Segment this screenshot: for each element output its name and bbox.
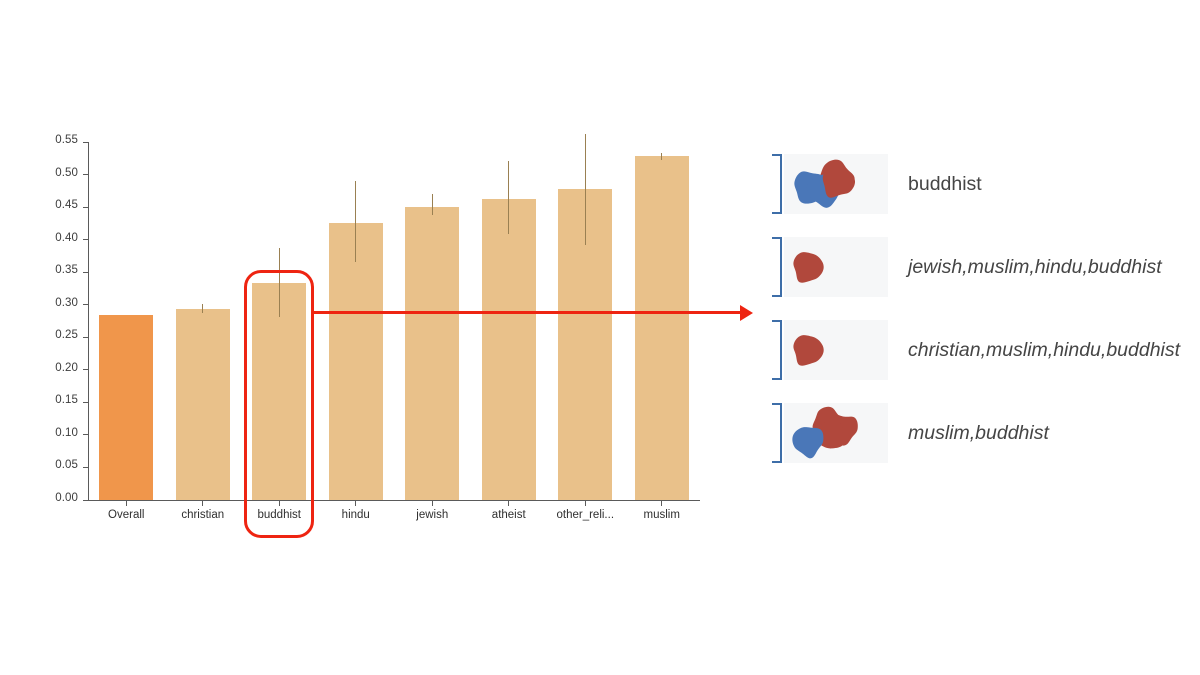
x-axis-tick: [585, 501, 586, 506]
blob-thumbnail-icon[interactable]: [784, 403, 888, 463]
x-axis-tick-label-muslim: muslim: [617, 509, 707, 521]
y-axis-tick: [83, 304, 88, 305]
y-axis-tick: [83, 337, 88, 338]
y-axis-tick-label: 0.15: [26, 394, 78, 406]
y-axis-tick-label: 0.10: [26, 427, 78, 439]
y-axis-tick-label: 0.20: [26, 362, 78, 374]
y-axis-tick: [83, 402, 88, 403]
annotation-arrow-line: [314, 311, 740, 314]
y-axis-tick: [83, 369, 88, 370]
bar-chart: 0.000.050.100.150.200.250.300.350.400.45…: [0, 0, 740, 675]
y-axis-tick: [83, 207, 88, 208]
bar-hindu: [329, 223, 383, 500]
x-axis-tick: [508, 501, 509, 506]
bar-christian: [176, 309, 230, 500]
bracket-icon: [772, 403, 782, 463]
bracket-icon: [772, 154, 782, 214]
gallery-item-label: muslim,buddhist: [908, 399, 1049, 467]
error-bar: [508, 161, 509, 234]
bar-atheist: [482, 199, 536, 500]
gallery-item[interactable]: jewish,muslim,hindu,buddhist: [772, 233, 1192, 301]
x-axis-tick: [355, 501, 356, 506]
y-axis-tick-label: 0.00: [26, 492, 78, 504]
y-axis-tick: [83, 467, 88, 468]
gallery-item[interactable]: muslim,buddhist: [772, 399, 1192, 467]
x-axis-spine: [88, 500, 700, 501]
y-axis-tick-label: 0.25: [26, 329, 78, 341]
image-gallery: buddhistjewish,muslim,hindu,buddhistchri…: [772, 150, 1192, 482]
y-axis-tick-label: 0.50: [26, 167, 78, 179]
bar-jewish: [405, 207, 459, 500]
y-axis-tick: [83, 142, 88, 143]
y-axis-tick-label: 0.55: [26, 134, 78, 146]
error-bar: [585, 134, 586, 245]
error-bar: [432, 194, 433, 215]
y-axis-tick-label: 0.35: [26, 264, 78, 276]
blob-thumbnail-icon[interactable]: [784, 320, 888, 380]
blob-thumbnail-icon[interactable]: [784, 154, 888, 214]
gallery-item[interactable]: christian,muslim,hindu,buddhist: [772, 316, 1192, 384]
x-axis-tick: [661, 501, 662, 506]
bracket-icon: [772, 237, 782, 297]
y-axis-tick-label: 0.45: [26, 199, 78, 211]
gallery-item-label: christian,muslim,hindu,buddhist: [908, 316, 1180, 384]
y-axis-tick: [83, 434, 88, 435]
highlight-box-buddhist: [244, 270, 314, 538]
error-bar: [661, 153, 662, 160]
gallery-item-label: jewish,muslim,hindu,buddhist: [908, 233, 1162, 301]
y-axis-spine: [88, 142, 89, 500]
y-axis-tick-label: 0.40: [26, 232, 78, 244]
x-axis-tick: [202, 501, 203, 506]
y-axis-tick: [83, 239, 88, 240]
y-axis-tick: [83, 174, 88, 175]
bar-muslim: [635, 156, 689, 500]
error-bar: [355, 181, 356, 262]
y-axis-tick-label: 0.30: [26, 297, 78, 309]
error-bar: [202, 304, 203, 313]
bar-overall: [99, 315, 153, 500]
blob-thumbnail-icon[interactable]: [784, 237, 888, 297]
gallery-item-label: buddhist: [908, 150, 982, 218]
y-axis-tick: [83, 272, 88, 273]
x-axis-tick: [126, 501, 127, 506]
annotation-arrow-head: [740, 305, 753, 321]
y-axis-tick-label: 0.05: [26, 459, 78, 471]
bracket-icon: [772, 320, 782, 380]
screenshot-canvas: 0.000.050.100.150.200.250.300.350.400.45…: [0, 0, 1200, 675]
x-axis-tick: [432, 501, 433, 506]
gallery-item[interactable]: buddhist: [772, 150, 1192, 218]
